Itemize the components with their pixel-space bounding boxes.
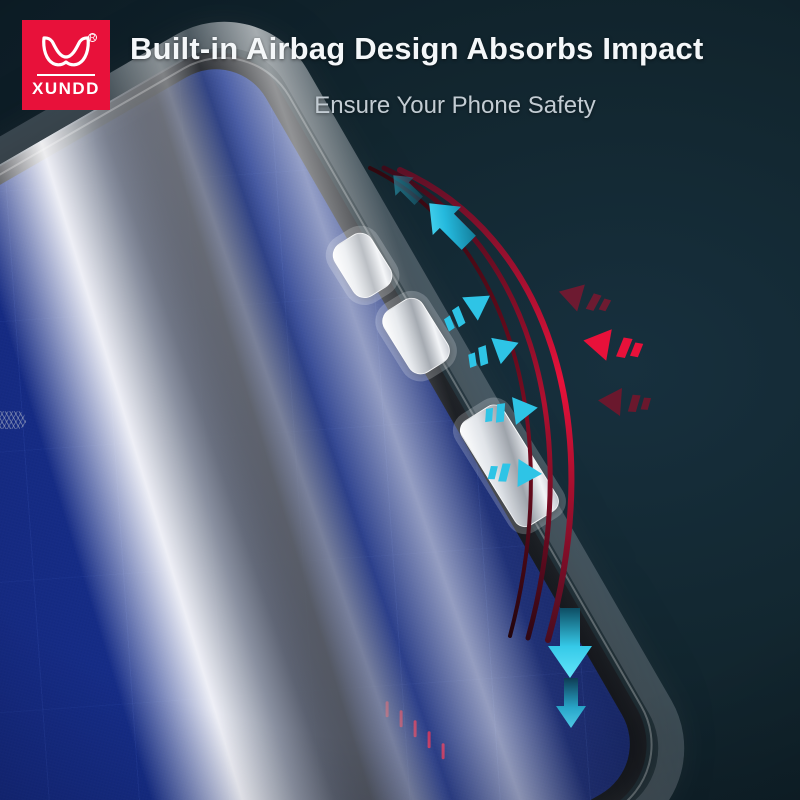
page-subtitle: Ensure Your Phone Safety [130,90,780,122]
brand-logo: R XUNDD [22,20,110,110]
cyan-up-arrow-large [418,192,480,254]
page-title: Built-in Airbag Design Absorbs Impact [130,28,780,70]
cyan-impact-arrow-4 [491,455,544,491]
red-impact-arrow-3 [595,384,647,419]
registered-trademark-icon: R [88,33,97,42]
cyan-down-arrow-large [544,606,596,680]
cyan-impact-arrow-3 [486,391,542,432]
brand-name: XUNDD [32,80,100,98]
promo-banner: R XUNDD Built-in Airbag Design Absorbs I… [0,0,800,800]
cyan-impact-arrow-2 [466,326,526,376]
header: R XUNDD Built-in Airbag Design Absorbs I… [0,0,800,136]
red-impact-arrow-2 [577,321,641,368]
cyan-impact-arrow-1 [439,280,501,337]
logo-divider [37,74,95,76]
cyan-down-arrow-small [552,676,590,730]
xundd-butterfly-mark: R [36,35,96,69]
red-impact-arrow-1 [553,276,610,321]
